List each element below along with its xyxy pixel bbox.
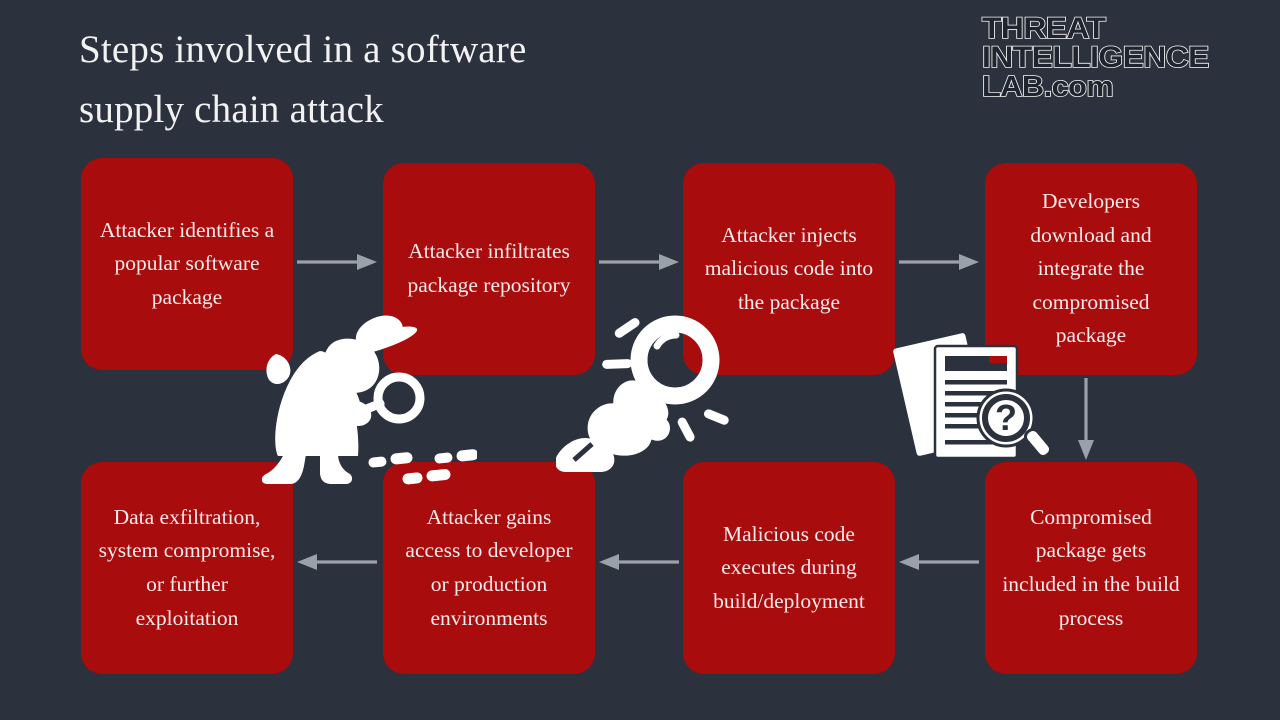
logo-line-threat: THREAT xyxy=(982,14,1226,43)
step-box-8-label: Data exfiltration, system compromise, or… xyxy=(99,501,276,635)
hand-magnifier-icon xyxy=(556,308,736,480)
logo-line-intelligence: INTELLIGENCE xyxy=(982,43,1226,72)
step-box-7[interactable]: Attacker gains access to developer or pr… xyxy=(383,462,595,674)
step-box-5-label: Compromised package gets included in the… xyxy=(1002,501,1179,635)
step-box-3-label: Attacker injects malicious code into the… xyxy=(705,219,873,320)
brand-logo: THREAT INTELLIGENCE LAB.com xyxy=(982,14,1226,101)
arrow-step5-to-step6 xyxy=(899,552,979,572)
arrow-step4-to-step5 xyxy=(1076,378,1096,460)
page-title: Steps involved in a software supply chai… xyxy=(79,20,699,141)
step-box-4-label: Developers download and integrate the co… xyxy=(1030,185,1151,353)
arrow-step3-to-step4 xyxy=(899,252,979,272)
step-box-5[interactable]: Compromised package gets included in the… xyxy=(985,462,1197,674)
svg-text:?: ? xyxy=(995,397,1017,438)
arrow-step7-to-step8 xyxy=(297,552,377,572)
arrow-step1-to-step2 xyxy=(297,252,377,272)
logo-line-lab: LAB.com xyxy=(982,73,1226,101)
step-box-2-label: Attacker infiltrates package repository xyxy=(408,235,571,302)
detective-icon xyxy=(262,306,477,486)
step-box-1-label: Attacker identifies a popular software p… xyxy=(100,214,274,315)
documents-magnifier-icon: ? xyxy=(893,330,1061,470)
step-box-7-label: Attacker gains access to developer or pr… xyxy=(405,501,572,635)
step-box-8[interactable]: Data exfiltration, system compromise, or… xyxy=(81,462,293,674)
step-box-6[interactable]: Malicious code executes during build/dep… xyxy=(683,462,895,674)
infographic-canvas: Steps involved in a software supply chai… xyxy=(0,0,1280,720)
step-box-6-label: Malicious code executes during build/dep… xyxy=(713,518,865,619)
arrow-step2-to-step3 xyxy=(599,252,679,272)
arrow-step6-to-step7 xyxy=(599,552,679,572)
